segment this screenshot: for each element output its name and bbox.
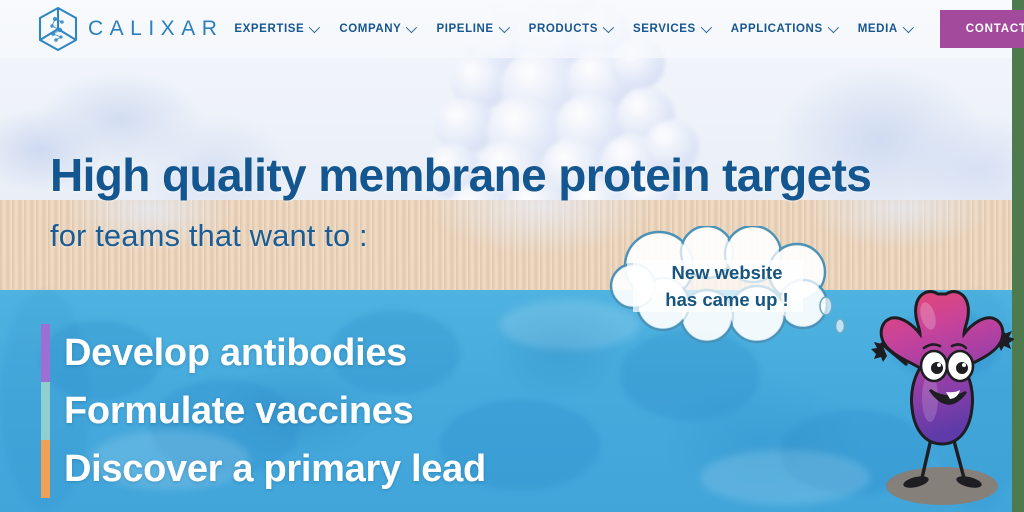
chevron-down-icon xyxy=(827,22,838,33)
hero-subline: for teams that want to : xyxy=(50,218,368,254)
bullet-label: Discover a primary lead xyxy=(64,450,486,488)
hero-headline: High quality membrane protein targets xyxy=(50,152,871,198)
bullet-bar-discover xyxy=(41,440,50,498)
main-navigation: EXPERTISE COMPANY PIPELINE PRODUCTS SERV… xyxy=(223,10,1024,48)
chevron-down-icon xyxy=(603,22,614,33)
nav-item-products[interactable]: PRODUCTS xyxy=(518,23,622,35)
brand-name: CALIXAR xyxy=(88,17,223,41)
nav-item-company[interactable]: COMPANY xyxy=(328,23,425,35)
nav-item-services[interactable]: SERVICES xyxy=(622,23,720,35)
list-item: Formulate vaccines xyxy=(41,382,486,440)
nav-item-pipeline[interactable]: PIPELINE xyxy=(425,23,517,35)
chevron-down-icon xyxy=(903,22,914,33)
site-header: CALIXAR EXPERTISE COMPANY PIPELINE PRODU… xyxy=(0,0,1012,58)
nav-item-label: PRODUCTS xyxy=(529,23,598,35)
contact-button[interactable]: CONTACT xyxy=(940,10,1024,48)
hexagon-molecule-logo-icon xyxy=(34,5,82,53)
list-item: Develop antibodies xyxy=(41,324,486,382)
nav-item-media[interactable]: MEDIA xyxy=(847,23,922,35)
bullet-label: Develop antibodies xyxy=(64,334,407,372)
bubble-line-1: New website xyxy=(607,260,847,287)
chevron-down-icon xyxy=(309,22,320,33)
nav-item-label: EXPERTISE xyxy=(234,23,304,35)
nav-item-label: COMPANY xyxy=(339,23,401,35)
nav-item-label: SERVICES xyxy=(633,23,696,35)
chevron-down-icon xyxy=(498,22,509,33)
nav-item-label: MEDIA xyxy=(858,23,898,35)
page-stage: CALIXAR EXPERTISE COMPANY PIPELINE PRODU… xyxy=(0,0,1024,512)
bullet-label: Formulate vaccines xyxy=(64,392,413,430)
list-item: Discover a primary lead xyxy=(41,440,486,498)
announcement-bubble: New website has came up ! xyxy=(607,226,847,344)
bubble-message: New website has came up ! xyxy=(607,260,847,314)
bubble-line-2: has came up ! xyxy=(607,287,847,314)
nav-item-label: PIPELINE xyxy=(436,23,493,35)
protein-mascot-character xyxy=(868,286,1014,512)
mascot-shadow xyxy=(886,467,998,505)
nav-item-expertise[interactable]: EXPERTISE xyxy=(223,23,328,35)
hero-bullet-list: Develop antibodies Formulate vaccines Di… xyxy=(41,324,486,498)
bullet-bar-develop xyxy=(41,324,50,382)
nav-item-label: APPLICATIONS xyxy=(731,23,823,35)
nav-item-applications[interactable]: APPLICATIONS xyxy=(720,23,847,35)
bullet-bar-formulate xyxy=(41,382,50,440)
site-logo[interactable]: CALIXAR xyxy=(34,5,223,53)
chevron-down-icon xyxy=(701,22,712,33)
chevron-down-icon xyxy=(406,22,417,33)
